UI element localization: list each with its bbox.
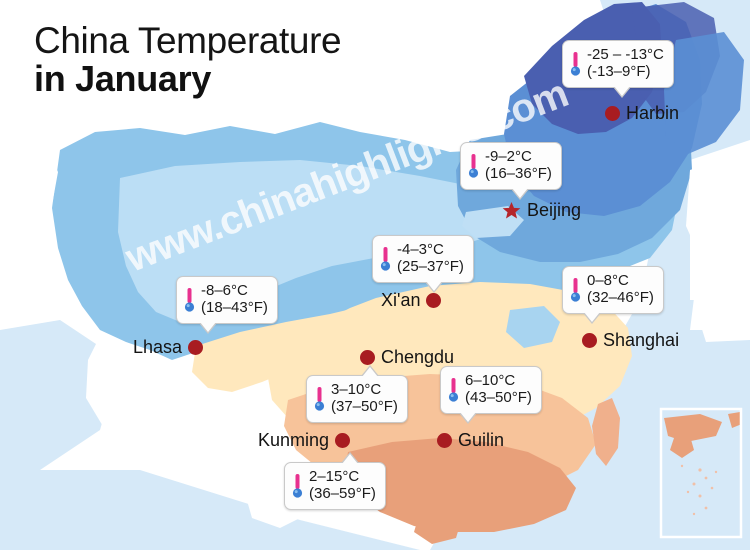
- inset-map: [662, 410, 742, 536]
- thermometer-icon: [570, 277, 581, 303]
- temp-celsius: 2–15°C: [309, 469, 376, 486]
- temp-celsius: 3–10°C: [331, 382, 398, 399]
- temp-fahrenheit: (43–50°F): [465, 390, 532, 407]
- title-line-1: China Temperature: [34, 22, 341, 60]
- callout-chengdu[interactable]: 3–10°C (37–50°F): [306, 375, 408, 423]
- thermometer-icon: [468, 153, 479, 179]
- title-line-2: in January: [34, 61, 341, 98]
- city-label-shanghai: Shanghai: [603, 330, 679, 351]
- marker-xian[interactable]: Xi'an: [381, 290, 441, 311]
- city-dot-icon: [437, 433, 452, 448]
- marker-beijing[interactable]: Beijing: [502, 200, 581, 221]
- temp-fahrenheit: (37–50°F): [331, 399, 398, 416]
- city-label-guilin: Guilin: [458, 430, 504, 451]
- callout-tail-inner: [200, 322, 216, 332]
- callout-beijing[interactable]: -9–2°C (16–36°F): [460, 142, 562, 190]
- callout-lhasa[interactable]: -8–6°C (18–43°F): [176, 276, 278, 324]
- city-label-lhasa: Lhasa: [133, 337, 182, 358]
- callout-harbin[interactable]: -25 – -13°C (-13–9°F): [562, 40, 674, 88]
- temp-fahrenheit: (-13–9°F): [587, 64, 664, 81]
- thermometer-icon: [314, 386, 325, 412]
- thermometer-icon: [184, 287, 195, 313]
- temp-fahrenheit: (18–43°F): [201, 300, 268, 317]
- temp-celsius: -8–6°C: [201, 283, 268, 300]
- city-dot-icon: [582, 333, 597, 348]
- callout-shanghai[interactable]: 0–8°C (32–46°F): [562, 266, 664, 314]
- city-dot-icon: [335, 433, 350, 448]
- temp-celsius: 0–8°C: [587, 273, 654, 290]
- thermometer-icon: [380, 246, 391, 272]
- page-title: China Temperature in January: [34, 22, 341, 97]
- marker-lhasa[interactable]: Lhasa: [133, 337, 203, 358]
- callout-tail-inner: [584, 312, 600, 322]
- temp-fahrenheit: (16–36°F): [485, 166, 552, 183]
- callout-tail-inner: [614, 86, 630, 96]
- temp-fahrenheit: (32–46°F): [587, 290, 654, 307]
- thermometer-icon: [292, 473, 303, 499]
- callout-xian[interactable]: -4–3°C (25–37°F): [372, 235, 474, 283]
- city-label-kunming: Kunming: [258, 430, 329, 451]
- city-label-chengdu: Chengdu: [381, 347, 454, 368]
- marker-kunming[interactable]: Kunming: [258, 430, 350, 451]
- callout-tail-inner: [362, 367, 378, 377]
- city-dot-icon: [360, 350, 375, 365]
- callout-guilin[interactable]: 6–10°C (43–50°F): [440, 366, 542, 414]
- marker-guilin[interactable]: Guilin: [437, 430, 504, 451]
- capital-star-icon: [502, 201, 521, 220]
- temp-celsius: -25 – -13°C: [587, 47, 664, 64]
- city-dot-icon: [605, 106, 620, 121]
- thermometer-icon: [448, 377, 459, 403]
- city-label-beijing: Beijing: [527, 200, 581, 221]
- temp-celsius: -4–3°C: [397, 242, 464, 259]
- temp-fahrenheit: (36–59°F): [309, 486, 376, 503]
- city-dot-icon: [426, 293, 441, 308]
- callout-tail-inner: [342, 454, 358, 464]
- marker-shanghai[interactable]: Shanghai: [582, 330, 679, 351]
- callout-kunming[interactable]: 2–15°C (36–59°F): [284, 462, 386, 510]
- thermometer-icon: [570, 51, 581, 77]
- city-dot-icon: [188, 340, 203, 355]
- temp-celsius: 6–10°C: [465, 373, 532, 390]
- callout-tail-inner: [512, 188, 528, 198]
- temp-celsius: -9–2°C: [485, 149, 552, 166]
- city-label-xian: Xi'an: [381, 290, 420, 311]
- callout-tail-inner: [460, 412, 476, 422]
- city-label-harbin: Harbin: [626, 103, 679, 124]
- map-infographic: China Temperature in January www.chinahi…: [0, 0, 750, 550]
- marker-harbin[interactable]: Harbin: [605, 103, 679, 124]
- temp-fahrenheit: (25–37°F): [397, 259, 464, 276]
- callout-tail-inner: [426, 281, 442, 291]
